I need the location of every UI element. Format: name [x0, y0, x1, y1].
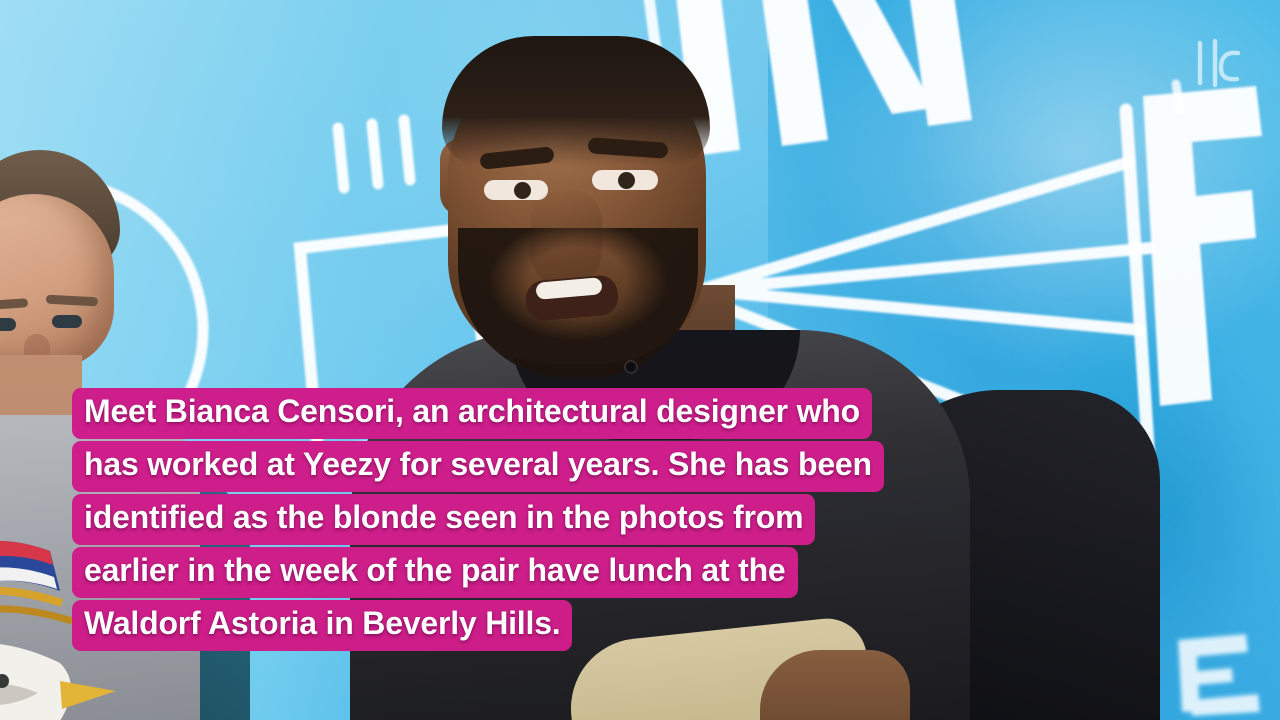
caption-line: Meet Bianca Censori, an architectural de… [72, 388, 872, 439]
subject-eye-left [484, 180, 548, 200]
caption-line: Waldorf Astoria in Beverly Hills. [72, 600, 572, 651]
left-man-eye-right [52, 315, 82, 328]
subject-pupil-left [514, 182, 531, 199]
subject-eye-right [592, 170, 658, 190]
left-man-neck [0, 355, 82, 415]
subject-lapel-mic [626, 362, 636, 372]
video-caption: Meet Bianca Censori, an architectural de… [72, 388, 1232, 653]
video-still-frame: Meet Bianca Censori, an architectural de… [0, 0, 1280, 720]
left-man-eyebrow-left [0, 298, 28, 311]
caption-line: has worked at Yeezy for several years. S… [72, 441, 884, 492]
hl-logo-watermark-icon [1188, 33, 1250, 95]
caption-line: identified as the blonde seen in the pho… [72, 494, 815, 545]
left-man-eye-left [0, 318, 16, 331]
left-man-eyebrow-right [46, 295, 98, 307]
subject-pupil-right [618, 172, 635, 189]
subject-hair [442, 36, 710, 166]
caption-line: earlier in the week of the pair have lun… [72, 547, 798, 598]
